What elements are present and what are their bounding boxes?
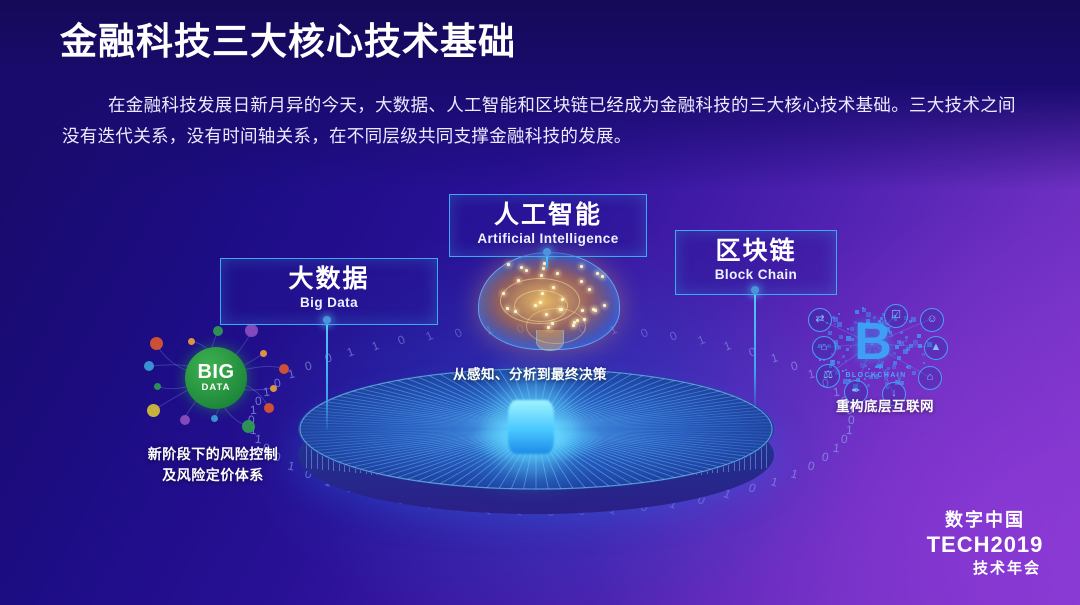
logo-line-digital-china: 数字中国 bbox=[905, 508, 1065, 532]
slide-canvas: 金融科技三大核心技术基础 在金融科技发展日新月异的今天，大数据、人工智能和区块链… bbox=[0, 0, 1080, 605]
logo-line-annual-conference: 技术年会 bbox=[905, 558, 1065, 580]
label-box-artificial-intelligence[interactable]: 人工智能 Artificial Intelligence bbox=[449, 194, 647, 257]
big-data-core-line1: BIG bbox=[197, 363, 234, 382]
caption-block-chain: 重构底层互联网 bbox=[800, 396, 970, 417]
caption-artificial-intelligence: 从感知、分析到最终决策 bbox=[430, 364, 630, 385]
label-ai-cn: 人工智能 bbox=[450, 200, 646, 230]
label-block-chain-cn: 区块链 bbox=[676, 236, 836, 266]
brain-stem bbox=[536, 330, 564, 351]
label-ai-en: Artificial Intelligence bbox=[450, 230, 646, 248]
connector-stem-block-chain bbox=[754, 290, 756, 408]
label-big-data-cn: 大数据 bbox=[221, 264, 437, 294]
label-big-data-en: Big Data bbox=[221, 294, 437, 312]
body-paragraph: 在金融科技发展日新月异的今天，大数据、人工智能和区块链已经成为金融科技的三大核心… bbox=[62, 90, 1022, 152]
blockchain-wordmark: BLOCKCHAIN bbox=[836, 372, 916, 379]
label-box-block-chain[interactable]: 区块链 Block Chain bbox=[675, 230, 837, 295]
label-block-chain-en: Block Chain bbox=[676, 266, 836, 284]
big-data-core-line2: DATA bbox=[202, 382, 231, 393]
big-data-network-icon: BIG DATA bbox=[143, 321, 279, 439]
connector-stem-big-data bbox=[326, 320, 328, 430]
label-box-big-data[interactable]: 大数据 Big Data bbox=[220, 258, 438, 325]
caption-big-data: 新阶段下的风险控制 及风险定价体系 bbox=[108, 444, 318, 486]
caption-big-data-line1: 新阶段下的风险控制 bbox=[108, 444, 318, 465]
big-data-core-badge: BIG DATA bbox=[185, 347, 247, 409]
caption-big-data-line2: 及风险定价体系 bbox=[108, 465, 318, 486]
blockchain-bitcoin-icon: B BLOCKCHAIN ⇄⌂⚖✒↓⌂▲☺☑ bbox=[798, 302, 950, 398]
event-logo: 数字中国 TECH2019 技术年会 bbox=[905, 508, 1065, 580]
logo-line-tech2019: TECH2019 bbox=[905, 532, 1065, 558]
page-title: 金融科技三大核心技术基础 bbox=[60, 18, 516, 66]
disc-core-glow bbox=[508, 400, 554, 454]
glowing-brain-icon bbox=[478, 252, 618, 352]
